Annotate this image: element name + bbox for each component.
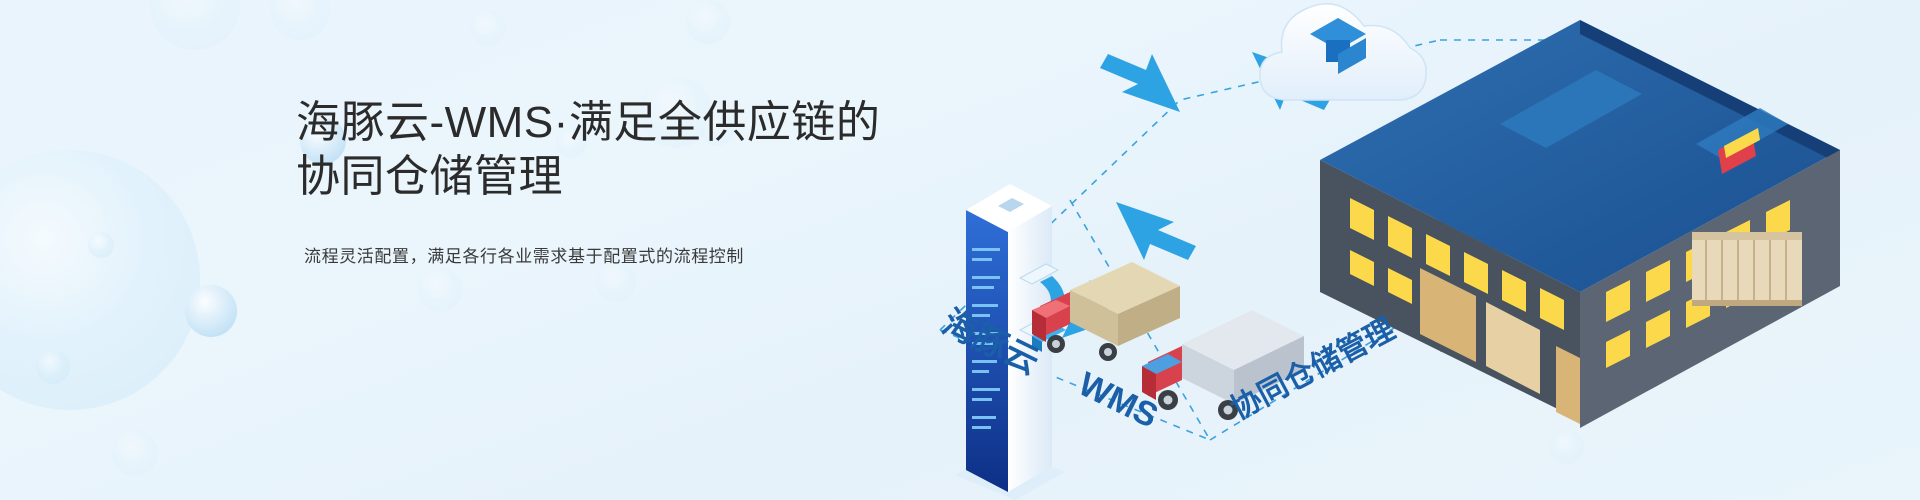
hero-text-block: 海豚云-WMS·满足全供应链的 协同仓储管理 流程灵活配置，满足各行各业需求基于…: [296, 96, 936, 270]
page-subtitle: 流程灵活配置，满足各行各业需求基于配置式的流程控制: [304, 244, 936, 270]
decorative-bubble: [112, 430, 158, 476]
decorative-bubble: [470, 10, 506, 46]
delivery-truck-icon: [1032, 262, 1180, 361]
decorative-bubble: [0, 150, 200, 410]
page-title: 海豚云-WMS·满足全供应链的 协同仓储管理: [296, 96, 936, 204]
cloud-upload-icon: [1260, 4, 1426, 100]
hero-banner: 海豚云-WMS·满足全供应链的 协同仓储管理 流程灵活配置，满足各行各业需求基于…: [0, 0, 1920, 500]
decorative-bubble: [150, 0, 240, 50]
decorative-bubble: [36, 350, 70, 384]
decorative-bubble: [270, 0, 330, 40]
warehouse-illustration: 海豚云 WMS 协同仓储管理: [880, 0, 1920, 500]
decorative-bubble: [418, 268, 462, 312]
decorative-bubble: [686, 0, 730, 44]
decorative-bubble: [88, 232, 114, 258]
decorative-bubble: [185, 285, 237, 337]
shipping-container-icon: [1692, 232, 1802, 306]
